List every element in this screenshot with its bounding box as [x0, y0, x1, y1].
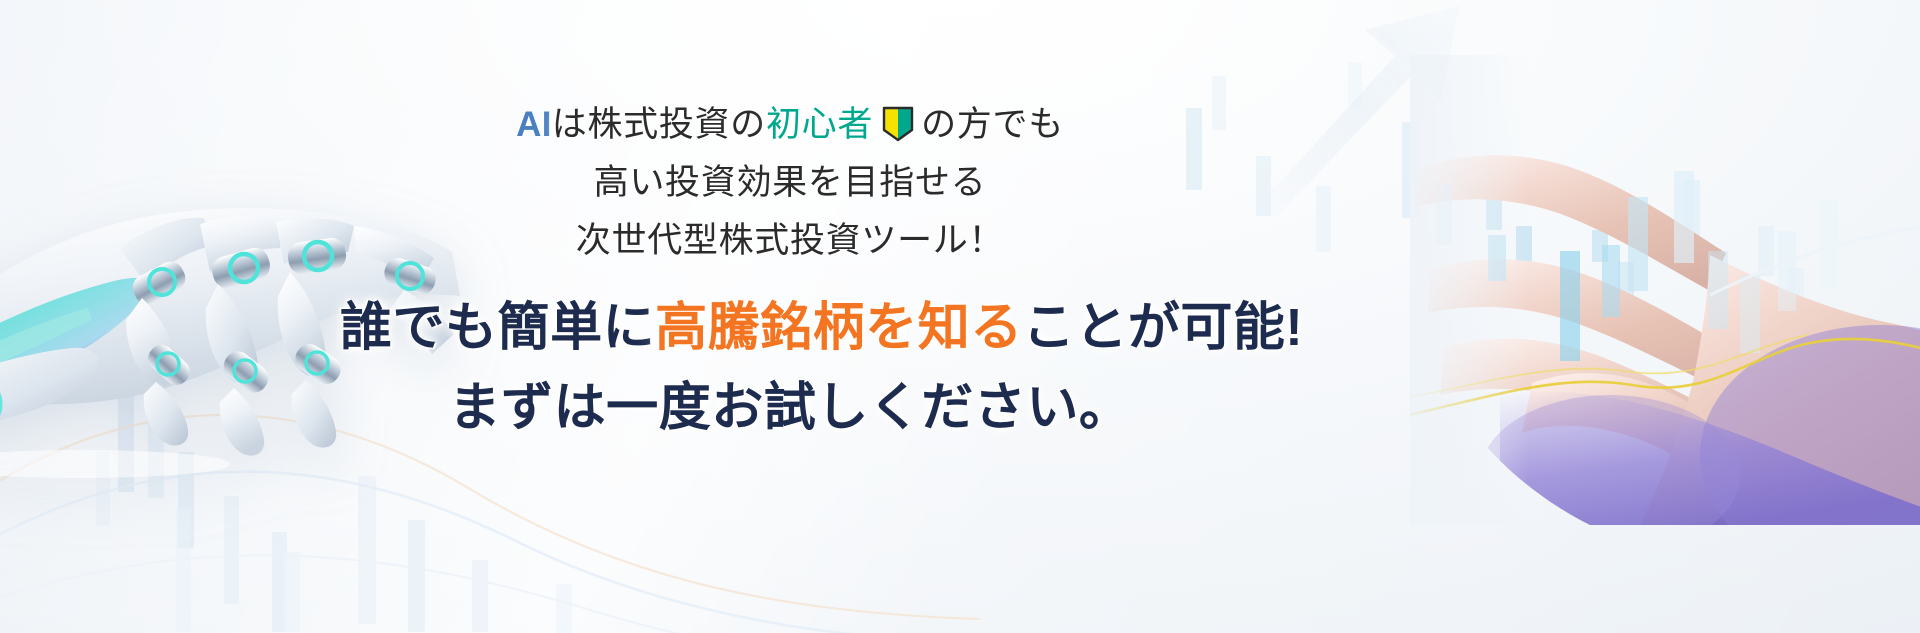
headline-highlight: 高騰銘柄を知る	[655, 299, 1023, 357]
subhead-line-3: 次世代型株式投資ツール！	[340, 212, 1240, 270]
subhead-line-2: 高い投資効果を目指せる	[340, 154, 1240, 212]
beginner-word: 初心者	[766, 105, 873, 144]
subhead-line-1-part-2: の方でも	[921, 105, 1064, 144]
copy-spacer	[340, 270, 1240, 288]
headline-part-2: ことが可能!	[1023, 299, 1303, 357]
japanese-beginner-symbol-emoji	[881, 106, 915, 142]
subhead-line-1: AIは株式投資の初心者 の方でも	[340, 96, 1240, 154]
hero-banner: AIは株式投資の初心者 の方でも 高い投資効果を目指せる 次世代型株式投資ツール…	[0, 0, 1920, 633]
headline-line-2: まずは一度お試しください。	[340, 368, 1240, 448]
headline-line-1: 誰でも簡単に高騰銘柄を知ることが可能!	[340, 288, 1240, 368]
ai-word: AI	[516, 105, 552, 144]
hero-copy: AIは株式投資の初心者 の方でも 高い投資効果を目指せる 次世代型株式投資ツール…	[0, 0, 1920, 633]
subhead-line-1-part-1: は株式投資の	[552, 105, 766, 144]
headline-part-1: 誰でも簡単に	[340, 299, 655, 357]
